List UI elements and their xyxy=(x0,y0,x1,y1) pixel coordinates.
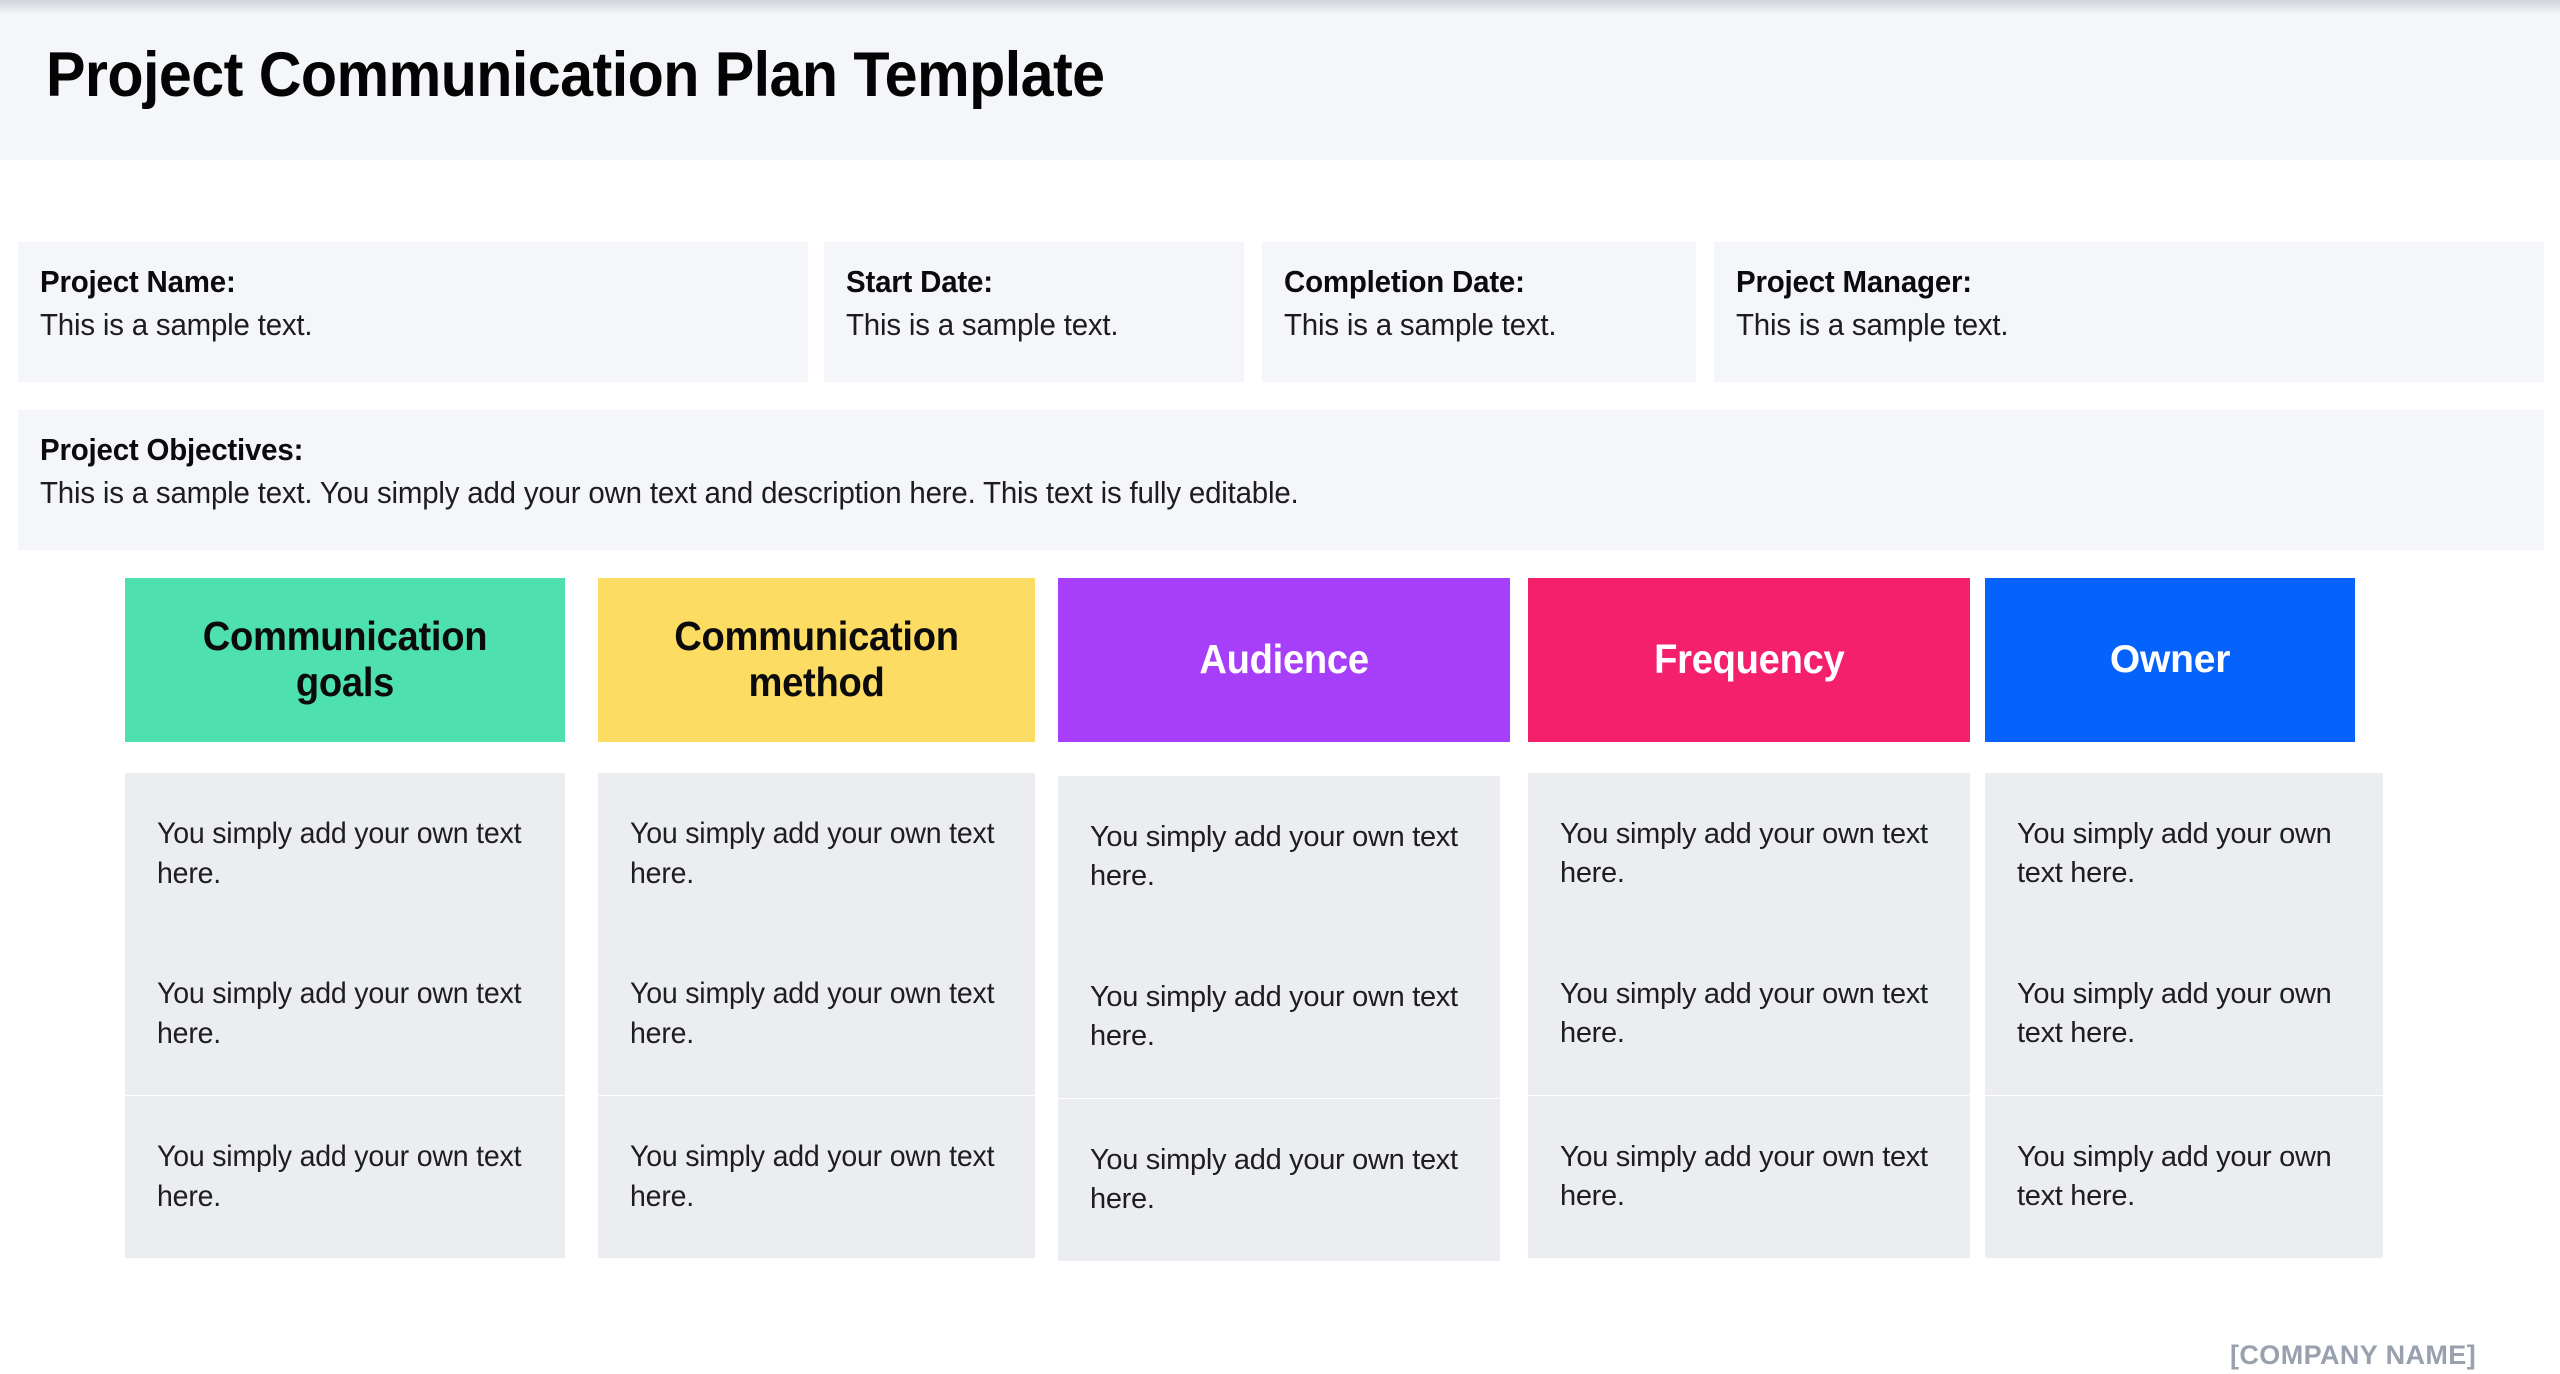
project-objectives-value[interactable]: This is a sample text. You simply add yo… xyxy=(40,473,2419,513)
matrix-cell-text: You simply add your own text here. xyxy=(1090,978,1500,1055)
info-value-project-manager[interactable]: This is a sample text. xyxy=(1736,305,2504,345)
matrix-cell[interactable]: You simply add your own text here. xyxy=(125,1096,565,1258)
column-header-label: Frequency xyxy=(1654,637,1844,683)
info-card-start-date[interactable]: Start Date: This is a sample text. xyxy=(824,242,1244,382)
matrix-cell-text: You simply add your own text here. xyxy=(2017,1138,2383,1215)
matrix-cell-text: You simply add your own text here. xyxy=(157,814,545,894)
info-label-project-name: Project Name: xyxy=(40,264,770,301)
column-header-label: Communication method xyxy=(623,614,1011,706)
info-label-completion-date: Completion Date: xyxy=(1284,264,1675,301)
matrix-cell[interactable]: You simply add your own text here. xyxy=(1985,773,2383,935)
matrix-cell[interactable]: You simply add your own text here. xyxy=(1058,776,1500,938)
slide-canvas: Project Communication Plan Template Proj… xyxy=(0,0,2560,1374)
info-card-project-name[interactable]: Project Name: This is a sample text. xyxy=(18,242,808,382)
matrix-cell[interactable]: You simply add your own text here. xyxy=(1985,1096,2383,1258)
matrix-cell-text: You simply add your own text here. xyxy=(157,974,545,1054)
info-value-completion-date[interactable]: This is a sample text. xyxy=(1284,305,1675,345)
matrix-cell-text: You simply add your own text here. xyxy=(1560,1138,1970,1215)
matrix-cell[interactable]: You simply add your own text here. xyxy=(1985,933,2383,1095)
column-header-owner[interactable]: Owner xyxy=(1985,578,2355,742)
matrix-cell-text: You simply add your own text here. xyxy=(1090,818,1500,895)
matrix-cell-text: You simply add your own text here. xyxy=(1560,815,1970,892)
title-band: Project Communication Plan Template xyxy=(0,13,2560,160)
matrix-cell-text: You simply add your own text here. xyxy=(630,814,1015,894)
matrix-cell[interactable]: You simply add your own text here. xyxy=(1528,773,1970,935)
matrix-cell-text: You simply add your own text here. xyxy=(2017,815,2383,892)
project-objectives-label: Project Objectives: xyxy=(40,432,2419,469)
matrix-cell-text: You simply add your own text here. xyxy=(2017,975,2383,1052)
matrix-cell[interactable]: You simply add your own text here. xyxy=(1528,1096,1970,1258)
matrix-cell-text: You simply add your own text here. xyxy=(1090,1141,1500,1218)
info-value-project-name[interactable]: This is a sample text. xyxy=(40,305,770,345)
matrix-cell-text: You simply add your own text here. xyxy=(157,1137,545,1217)
matrix-cell-text: You simply add your own text here. xyxy=(630,974,1015,1054)
matrix-cell[interactable]: You simply add your own text here. xyxy=(598,933,1035,1095)
matrix-cell[interactable]: You simply add your own text here. xyxy=(1058,936,1500,1098)
info-label-start-date: Start Date: xyxy=(846,264,1224,301)
info-card-project-manager[interactable]: Project Manager: This is a sample text. xyxy=(1714,242,2544,382)
company-name-watermark: [COMPANY NAME] xyxy=(2230,1340,2476,1371)
project-info-row: Project Name: This is a sample text. Sta… xyxy=(0,242,2560,382)
column-header-label: Owner xyxy=(2110,638,2230,682)
project-objectives-card[interactable]: Project Objectives: This is a sample tex… xyxy=(18,410,2544,550)
page-title: Project Communication Plan Template xyxy=(46,44,1104,107)
column-header-frequency[interactable]: Frequency xyxy=(1528,578,1970,742)
matrix-cell[interactable]: You simply add your own text here. xyxy=(598,773,1035,935)
info-label-project-manager: Project Manager: xyxy=(1736,264,2504,301)
matrix-cell[interactable]: You simply add your own text here. xyxy=(125,773,565,935)
column-header-communication-goals[interactable]: Communication goals xyxy=(125,578,565,742)
matrix-cell[interactable]: You simply add your own text here. xyxy=(598,1096,1035,1258)
matrix-cell[interactable]: You simply add your own text here. xyxy=(1058,1099,1500,1261)
matrix-cell-text: You simply add your own text here. xyxy=(630,1137,1015,1217)
column-header-audience[interactable]: Audience xyxy=(1058,578,1510,742)
info-card-completion-date[interactable]: Completion Date: This is a sample text. xyxy=(1262,242,1696,382)
column-header-label: Communication goals xyxy=(150,614,541,706)
matrix-cell-text: You simply add your own text here. xyxy=(1560,975,1970,1052)
matrix-cell[interactable]: You simply add your own text here. xyxy=(125,933,565,1095)
info-value-start-date[interactable]: This is a sample text. xyxy=(846,305,1224,345)
column-header-communication-method[interactable]: Communication method xyxy=(598,578,1035,742)
column-header-label: Audience xyxy=(1199,637,1368,683)
matrix-cell[interactable]: You simply add your own text here. xyxy=(1528,933,1970,1095)
top-gradient-strip xyxy=(0,0,2560,13)
